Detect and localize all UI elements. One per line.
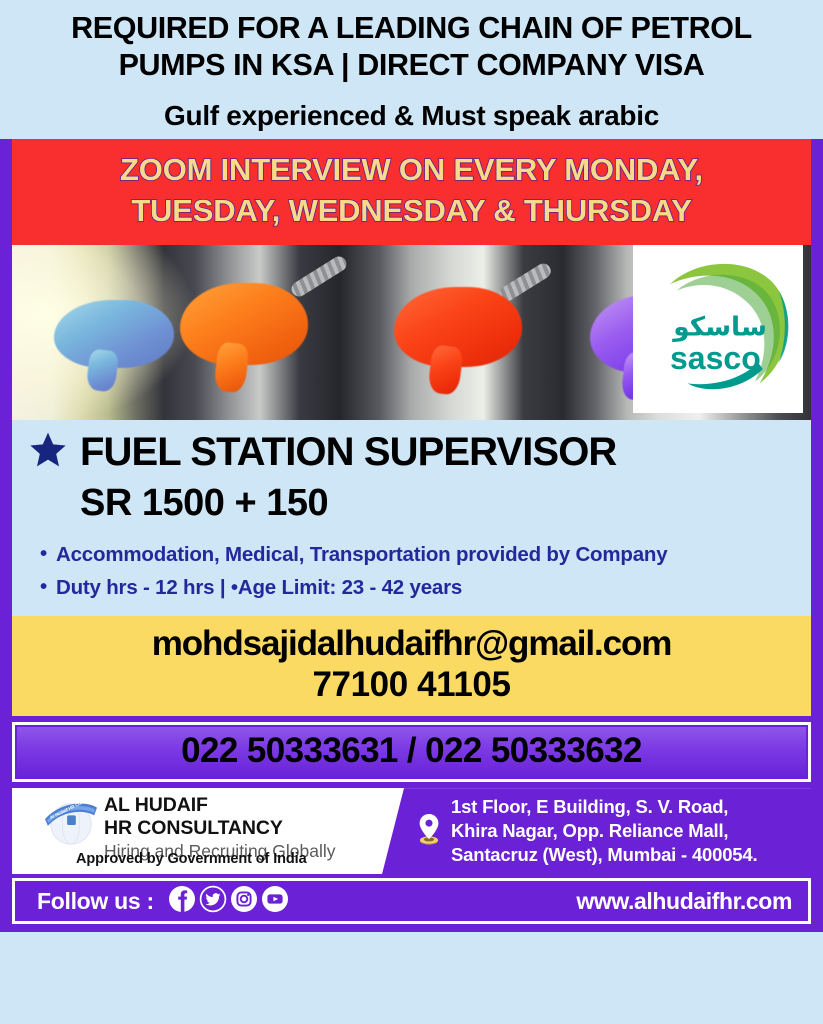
agency-name-line2: HR CONSULTANCY — [104, 817, 336, 840]
youtube-icon[interactable] — [261, 885, 289, 918]
bullet-dot-icon: • — [40, 574, 47, 602]
banner-line1: ZOOM INTERVIEW ON EVERY MONDAY, — [18, 150, 805, 191]
job-details-frame: FUEL STATION SUPERVISOR SR 1500 + 150 • … — [0, 420, 823, 616]
instagram-icon[interactable] — [230, 885, 258, 918]
banner-line2: TUESDAY, WEDNESDAY & THURSDAY — [18, 191, 805, 232]
footer-bar: Follow us : — [12, 878, 811, 924]
fuel-nozzle-orange — [180, 283, 308, 365]
landline-bar: 022 50333631 / 022 50333632 — [17, 727, 806, 778]
svg-text:sasco: sasco — [670, 340, 761, 376]
fuel-nozzle-red — [394, 287, 522, 367]
globe-ribbon-logo: Al Hudaif HR Consultancy — [42, 798, 100, 855]
poster-header: REQUIRED FOR A LEADING CHAIN OF PETROL P… — [0, 0, 823, 139]
photo-frame: ساسكو sasco — [0, 245, 823, 420]
agency-address-block: 1st Floor, E Building, S. V. Road, Khira… — [382, 788, 811, 874]
follow-us-label: Follow us : — [37, 888, 154, 915]
list-item: • Accommodation, Medical, Transportation… — [40, 541, 801, 569]
job-title: FUEL STATION SUPERVISOR — [80, 431, 616, 473]
job-title-row: FUEL STATION SUPERVISOR — [28, 430, 801, 475]
email-contact-section: mohdsajidalhudaifhr@gmail.com 77100 4110… — [12, 616, 811, 715]
header-subtitle: Gulf experienced & Must speak arabic — [10, 99, 813, 133]
fuel-pump-photo: ساسكو sasco — [12, 245, 811, 420]
agency-approval-note: Approved by Government of India — [76, 851, 307, 867]
footer-wrap: Follow us : — [0, 874, 823, 932]
facebook-icon[interactable] — [168, 885, 196, 918]
star-icon — [28, 430, 68, 475]
sasco-logo: ساسكو sasco — [633, 245, 803, 413]
landline-section: 022 50333631 / 022 50333632 — [0, 716, 823, 789]
bullet-dot-icon: • — [40, 541, 47, 569]
job-details-section: FUEL STATION SUPERVISOR SR 1500 + 150 • … — [12, 420, 811, 616]
twitter-icon[interactable] — [199, 885, 227, 918]
website-url[interactable]: www.alhudaifhr.com — [576, 888, 792, 915]
contact-mobile[interactable]: 77100 41105 — [16, 664, 807, 705]
contact-email[interactable]: mohdsajidalhudaifhr@gmail.com — [16, 624, 807, 663]
address-line-3: Santacruz (West), Mumbai - 400054. — [451, 843, 757, 867]
agency-section: Al Hudaif HR Consultancy AL HUDAIF HR CO… — [12, 788, 811, 874]
header-headline-line2: PUMPS IN KSA | DIRECT COMPANY VISA — [10, 47, 813, 84]
banner-frame: ZOOM INTERVIEW ON EVERY MONDAY, TUESDAY,… — [0, 139, 823, 245]
contact-landlines[interactable]: 022 50333631 / 022 50333632 — [21, 732, 802, 771]
job-benefits-list: • Accommodation, Medical, Transportation… — [40, 541, 801, 603]
fuel-nozzle-blue — [54, 300, 174, 368]
interview-schedule-banner: ZOOM INTERVIEW ON EVERY MONDAY, TUESDAY,… — [12, 139, 811, 245]
address-line-1: 1st Floor, E Building, S. V. Road, — [451, 795, 757, 819]
benefit-text: Accommodation, Medical, Transportation p… — [56, 541, 667, 569]
agency-name-line1: AL HUDAIF — [104, 794, 336, 817]
address-line-2: Khira Nagar, Opp. Reliance Mall, — [451, 819, 757, 843]
social-links — [168, 885, 289, 918]
address-lines: 1st Floor, E Building, S. V. Road, Khira… — [451, 795, 757, 868]
header-headline-line1: REQUIRED FOR A LEADING CHAIN OF PETROL — [10, 10, 813, 47]
email-frame: mohdsajidalhudaifhr@gmail.com 77100 4110… — [0, 616, 823, 715]
list-item: • Duty hrs - 12 hrs | •Age Limit: 23 - 4… — [40, 574, 801, 602]
svg-text:ساسكو: ساسكو — [671, 311, 767, 342]
agency-section-wrap: Al Hudaif HR Consultancy AL HUDAIF HR CO… — [0, 788, 823, 874]
job-salary: SR 1500 + 150 — [80, 483, 801, 525]
job-advertisement-poster: REQUIRED FOR A LEADING CHAIN OF PETROL P… — [0, 0, 823, 1024]
benefit-text: Duty hrs - 12 hrs | •Age Limit: 23 - 42 … — [56, 574, 462, 602]
location-pin-icon — [416, 812, 442, 851]
landline-frame: 022 50333631 / 022 50333632 — [12, 722, 811, 783]
